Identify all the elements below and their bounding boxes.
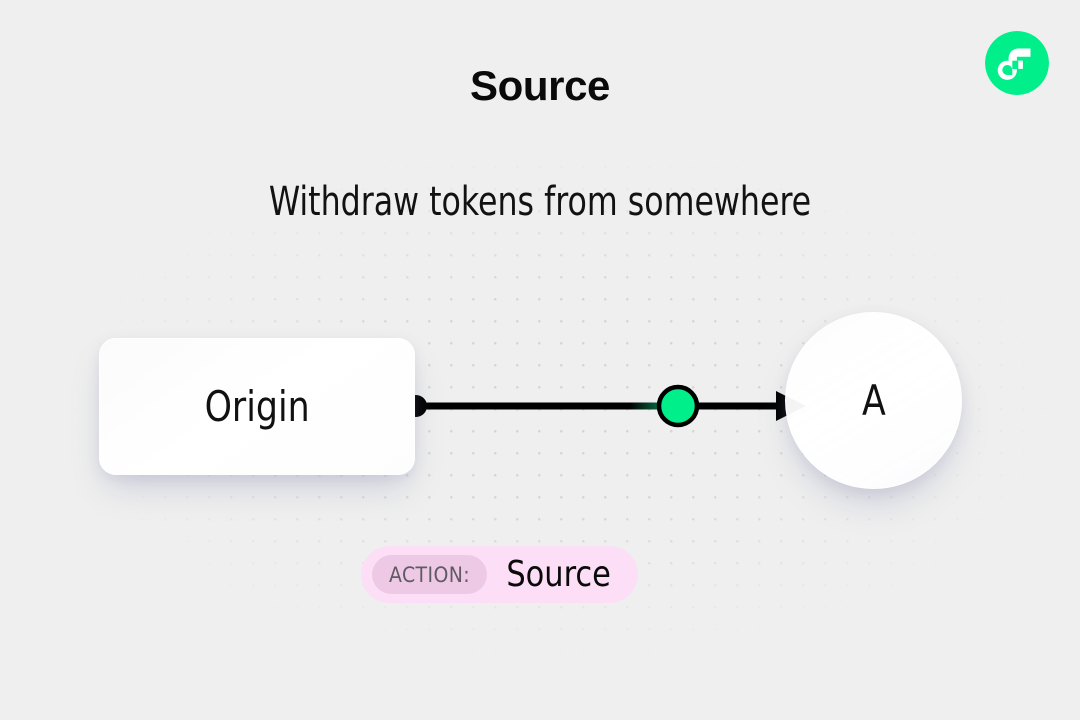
- node-origin-label: Origin: [204, 382, 309, 431]
- page-subtitle: Withdraw tokens from somewhere: [65, 179, 1015, 225]
- diagram-canvas: Source Withdraw tokens from somewhere Or…: [0, 0, 1080, 720]
- node-a[interactable]: A: [785, 312, 962, 489]
- flow-logo-icon[interactable]: [985, 31, 1049, 95]
- logo-mark-notch: [1012, 61, 1018, 69]
- edge-mid-node[interactable]: [659, 387, 697, 425]
- node-origin[interactable]: Origin: [99, 338, 415, 475]
- action-badge-value: Source: [506, 554, 611, 595]
- action-badge-key: ACTION:: [372, 555, 487, 594]
- page-title: Source: [0, 62, 1080, 110]
- node-a-label: A: [862, 376, 886, 425]
- action-badge[interactable]: ACTION: Source: [361, 546, 638, 603]
